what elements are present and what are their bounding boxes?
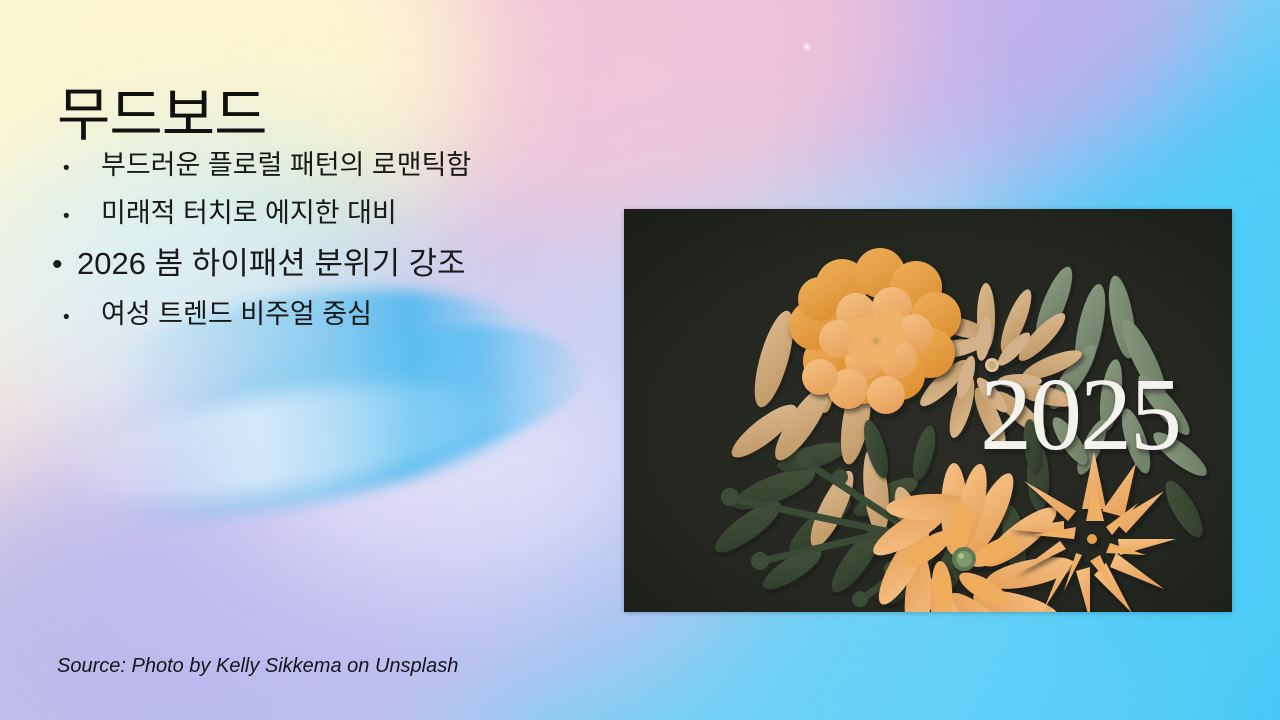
bullet-text: 2026 봄 하이패션 분위기 강조	[77, 248, 466, 279]
white-highlight-streak	[55, 361, 504, 524]
photo-illustration: 2025	[624, 209, 1232, 612]
bullet-list: • 부드러운 플로럴 패턴의 로맨틱함 • 미래적 터치로 에지한 대비 • 2…	[48, 152, 608, 349]
bullet-marker-icon: •	[48, 207, 101, 226]
bullet-text: 여성 트렌드 비주얼 중심	[101, 301, 372, 328]
bullet-marker-icon: •	[48, 159, 101, 178]
bullet-item-2: • 미래적 터치로 에지한 대비	[48, 200, 608, 227]
bullet-item-3: • 2026 봄 하이패션 분위기 강조	[48, 248, 608, 280]
blob-violet	[700, 0, 1220, 180]
bullet-item-4: • 여성 트렌드 비주얼 중심	[48, 301, 608, 328]
slide-title: 무드보드	[57, 84, 266, 148]
bullet-marker-icon: •	[48, 250, 77, 280]
light-speck	[804, 44, 810, 50]
bullet-marker-icon: •	[48, 308, 101, 327]
blob-white-mid	[230, 330, 650, 580]
bullet-text: 부드러운 플로럴 패턴의 로맨틱함	[101, 152, 471, 179]
bullet-item-1: • 부드러운 플로럴 패턴의 로맨틱함	[48, 152, 608, 179]
slide-canvas: 무드보드 • 부드러운 플로럴 패턴의 로맨틱함 • 미래적 터치로 에지한 대…	[0, 0, 1280, 720]
source-caption: Source: Photo by Kelly Sikkema on Unspla…	[57, 655, 458, 678]
mood-board-photo: 2025	[624, 209, 1232, 612]
blob-periwinkle	[0, 470, 480, 720]
bullet-text: 미래적 터치로 에지한 대비	[101, 200, 397, 227]
year-numerals-2025: 2025	[980, 357, 1180, 472]
